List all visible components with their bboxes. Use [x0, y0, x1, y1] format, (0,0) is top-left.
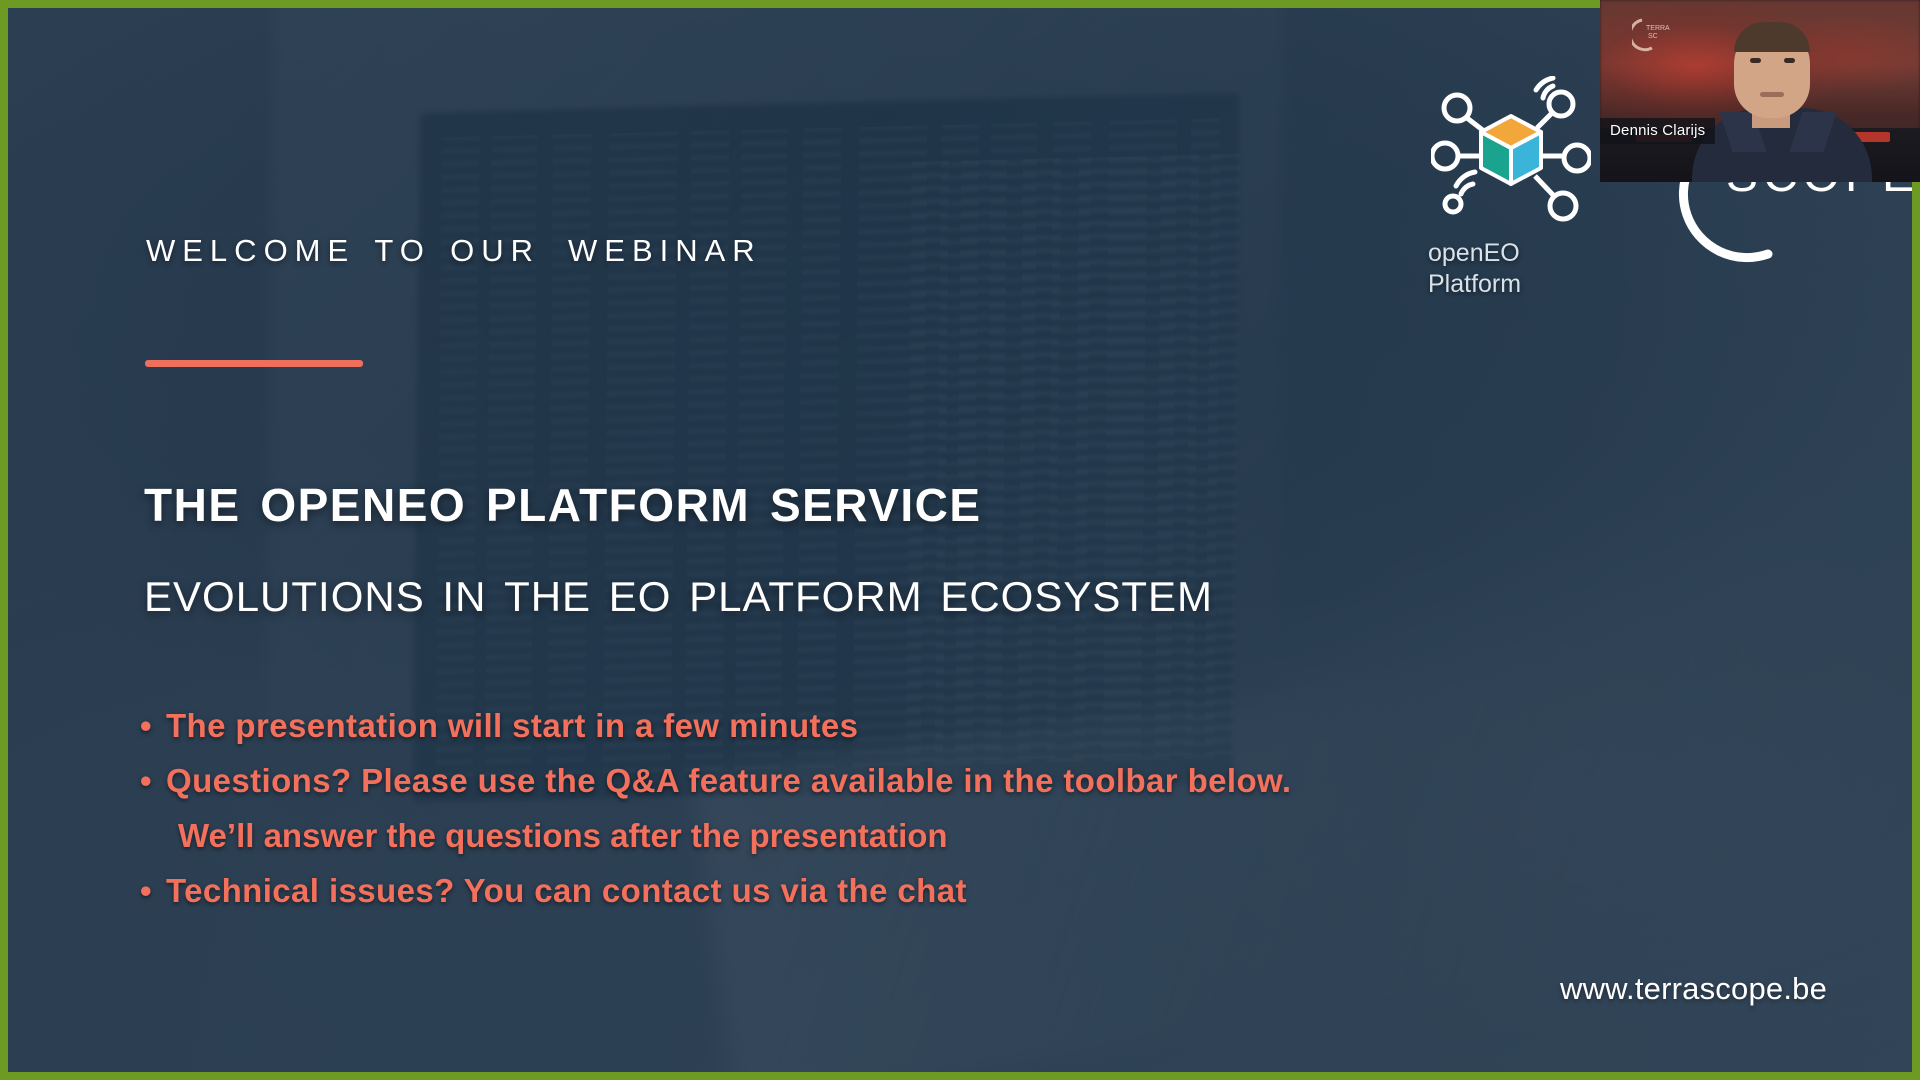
bullet-text: Questions? Please use the Q&A feature av…	[166, 753, 1291, 808]
meeting-stage: Welcome to our Webinar The openEO Platfo…	[0, 0, 1920, 1080]
bullet-continuation-text: We’ll answer the questions after the pre…	[140, 808, 1520, 863]
participant-eye-left	[1750, 58, 1761, 63]
accent-divider	[145, 360, 363, 367]
openeo-cube-network-icon	[1431, 76, 1591, 236]
welcome-highlight-text: Webinar	[556, 220, 774, 276]
openeo-platform-logo: openEO Platform	[1416, 76, 1606, 300]
terra-logo-icon: TERRA SC	[1632, 14, 1680, 54]
page-subtitle: Evolutions in the EO platform ecosystem	[144, 556, 1213, 625]
bullet-marker-icon: •	[140, 698, 166, 753]
participant-video-tile[interactable]: TERRA SC Dennis Clarijs	[1600, 0, 1920, 182]
bullet-text: The presentation will start in a few min…	[166, 698, 858, 753]
footer-website-url: www.terrascope.be	[1556, 971, 1831, 1007]
svg-text:TERRA: TERRA	[1646, 25, 1670, 32]
openeo-logo-line1: openEO	[1428, 238, 1606, 269]
participant-name-label: Dennis Clarijs	[1600, 118, 1715, 144]
list-item: • Technical issues? You can contact us v…	[140, 863, 1520, 918]
openeo-logo-line2: Platform	[1428, 269, 1606, 300]
svg-text:SC: SC	[1648, 33, 1658, 40]
bullet-text: Technical issues? You can contact us via…	[166, 863, 967, 918]
bullet-list: • The presentation will start in a few m…	[140, 698, 1520, 918]
welcome-heading: Welcome to our Webinar	[146, 220, 774, 276]
welcome-lead-text: Welcome to our	[146, 222, 540, 272]
bullet-marker-icon: •	[140, 753, 166, 808]
list-item: • The presentation will start in a few m…	[140, 698, 1520, 753]
bullet-marker-icon: •	[140, 863, 166, 918]
participant-mouth	[1760, 92, 1784, 97]
participant-eye-right	[1784, 58, 1795, 63]
page-title: The openEO Platform Service	[144, 460, 982, 536]
list-item: • Questions? Please use the Q&A feature …	[140, 753, 1520, 808]
